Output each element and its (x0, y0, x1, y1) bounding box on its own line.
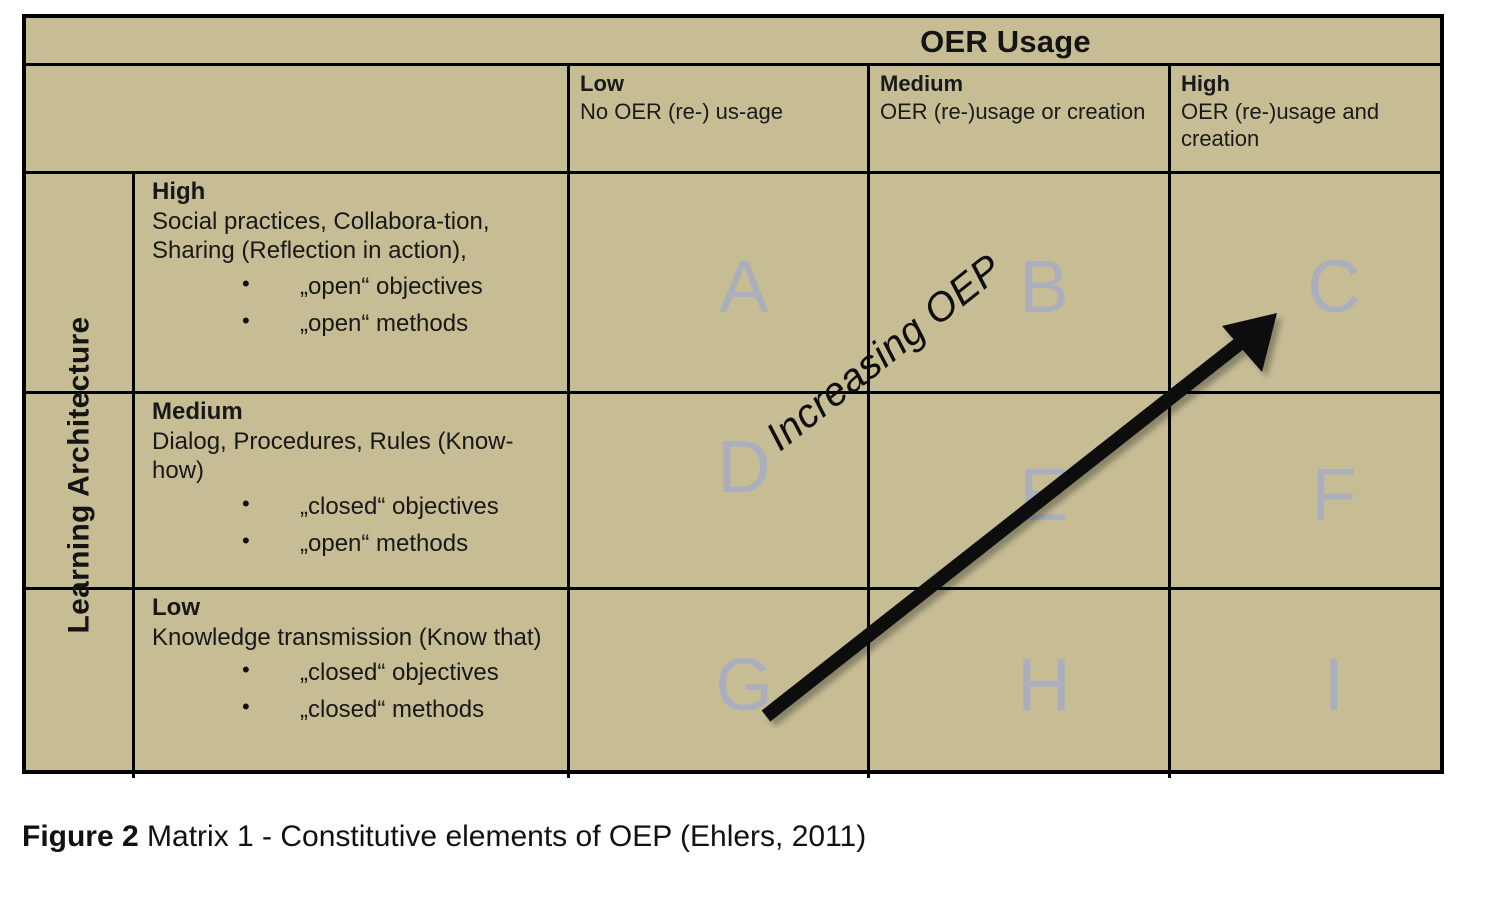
row-header-high: High Social practices, Collabora-tion, S… (136, 175, 569, 391)
matrix-cell-i: I (1274, 648, 1394, 722)
list-item: „open“ methods (152, 305, 565, 342)
column-header-low: Low No OER (re-) us-age (571, 66, 868, 170)
column-header-low-description: No OER (re-) us-age (580, 98, 860, 126)
row-header-low: Low Knowledge transmission (Know that) „… (136, 591, 569, 774)
figure-caption-text: Matrix 1 - Constitutive elements of OEP … (139, 820, 867, 853)
oep-matrix-table: OER Usage Low No OER (re-) us-age Medium… (22, 14, 1444, 774)
column-header-high: High OER (re-)usage and creation (1172, 66, 1444, 170)
list-item: „closed“ objectives (152, 488, 565, 525)
column-header-high-title: High (1181, 70, 1436, 98)
matrix-cell-a: A (684, 250, 804, 324)
grid-line-axis-col (132, 171, 135, 778)
row-header-high-title: High (152, 177, 565, 207)
row-header-medium-description: Dialog, Procedures, Rules (Know-how) (152, 427, 565, 486)
list-item: „open“ objectives (152, 268, 565, 305)
row-header-low-title: Low (152, 593, 565, 623)
row-header-medium-bullets: „closed“ objectives „open“ methods (152, 488, 565, 562)
grid-line-subheader-bottom (26, 171, 1440, 174)
list-item: „closed“ objectives (152, 654, 565, 691)
row-header-medium-title: Medium (152, 397, 565, 427)
list-item: „open“ methods (152, 525, 565, 562)
row-header-medium: Medium Dialog, Procedures, Rules (Know-h… (136, 395, 569, 587)
matrix-cell-g: G (684, 648, 804, 722)
figure-caption-label: Figure 2 (22, 820, 139, 853)
row-header-high-description: Social practices, Collabora-tion, Sharin… (152, 207, 565, 266)
grid-line-row1-bottom (26, 391, 1440, 394)
grid-line-col-medium (867, 63, 870, 778)
matrix-cell-e: E (984, 458, 1104, 532)
matrix-cell-d: D (684, 430, 804, 504)
row-header-low-description: Knowledge transmission (Know that) (152, 623, 565, 653)
matrix-cell-f: F (1274, 458, 1394, 532)
figure-container: OER Usage Low No OER (re-) us-age Medium… (0, 0, 1488, 904)
column-header-medium-title: Medium (880, 70, 1161, 98)
list-item: „closed“ methods (152, 691, 565, 728)
grid-line-row2-bottom (26, 587, 1440, 590)
column-axis-title: OER Usage (571, 20, 1440, 64)
matrix-cell-c: C (1274, 250, 1394, 324)
row-header-high-bullets: „open“ objectives „open“ methods (152, 268, 565, 342)
figure-caption: Figure 2 Matrix 1 - Constitutive element… (22, 820, 866, 854)
row-header-low-bullets: „closed“ objectives „closed“ methods (152, 654, 565, 728)
matrix-cell-h: H (984, 648, 1104, 722)
column-header-medium-description: OER (re-)usage or creation (880, 98, 1161, 126)
column-header-medium: Medium OER (re-)usage or creation (871, 66, 1169, 170)
column-header-high-description: OER (re-)usage and creation (1181, 98, 1436, 153)
column-header-low-title: Low (580, 70, 860, 98)
matrix-cell-b: B (984, 250, 1104, 324)
row-axis-title-text: Learning Architecture (62, 316, 96, 633)
grid-line-col-high (1168, 63, 1171, 778)
row-axis-title: Learning Architecture (26, 175, 132, 774)
